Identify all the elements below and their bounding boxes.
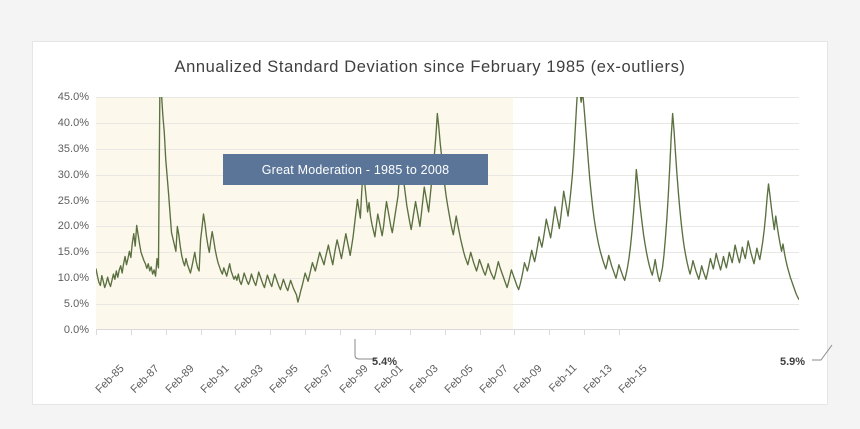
x-axis-tick-label: Feb-05	[442, 363, 475, 396]
y-axis-tick-label: 5.0%	[64, 298, 89, 310]
x-axis-tick-label: Feb-85	[94, 363, 127, 396]
y-axis-tick-label: 15.0%	[58, 246, 89, 258]
plot-area-wrapper: 45.0%40.0%35.0%30.0%25.0%20.0%15.0%10.0%…	[96, 97, 799, 330]
x-axis-tick	[340, 330, 341, 335]
y-axis-tick-label: 25.0%	[58, 195, 89, 207]
y-axis-tick-label: 45.0%	[58, 91, 89, 103]
y-axis-tick-label: 10.0%	[58, 272, 89, 284]
x-axis-tick	[131, 330, 132, 335]
x-axis-tick-label: Feb-97	[303, 363, 336, 396]
x-axis-tick	[514, 330, 515, 335]
x-axis-tick	[445, 330, 446, 335]
x-axis-tick-label: Feb-11	[547, 362, 580, 395]
great-moderation-callout-label: Great Moderation - 1985 to 2008	[262, 163, 450, 177]
x-axis-tick-label: Feb-87	[128, 363, 161, 396]
y-axis-tick-label: 40.0%	[58, 117, 89, 129]
chart-title: Annualized Standard Deviation since Febr…	[33, 58, 827, 77]
x-axis-tick	[201, 330, 202, 335]
x-axis-tick-label: Feb-09	[512, 363, 545, 396]
x-axis-tick	[96, 330, 97, 335]
y-axis-tick-label: 35.0%	[58, 143, 89, 155]
x-axis-tick-label: Feb-93	[233, 363, 266, 396]
x-axis-tick	[235, 330, 236, 335]
x-axis-tick	[619, 330, 620, 335]
x-axis-tick-label: Feb-03	[407, 363, 440, 396]
x-axis-tick	[410, 330, 411, 335]
great-moderation-callout: Great Moderation - 1985 to 2008	[223, 154, 488, 185]
x-axis-tick-label: Feb-95	[268, 363, 301, 396]
x-axis-tick	[270, 330, 271, 335]
x-axis-tick	[549, 330, 550, 335]
x-axis-tick	[584, 330, 585, 335]
plot-area	[96, 97, 799, 330]
x-axis-tick-label: Feb-15	[616, 363, 649, 396]
x-axis-tick-label: Feb-99	[338, 363, 371, 396]
x-axis-tick	[480, 330, 481, 335]
annotation-low-right: 5.9%	[780, 356, 805, 368]
y-axis-tick-label: 20.0%	[58, 220, 89, 232]
x-axis-tick	[166, 330, 167, 335]
x-axis-tick	[305, 330, 306, 335]
y-axis-tick-label: 0.0%	[64, 324, 89, 336]
x-axis-tick-label: Feb-91	[198, 363, 231, 396]
x-axis-tick-label: Feb-13	[582, 363, 615, 396]
leader-line-low-right	[811, 342, 833, 364]
annotation-low-left: 5.4%	[372, 356, 397, 368]
series-line-annualized-standard-deviation	[96, 97, 799, 330]
y-axis-tick-label: 30.0%	[58, 169, 89, 181]
chart-card: Annualized Standard Deviation since Febr…	[32, 41, 828, 405]
x-axis-tick-label: Feb-89	[163, 363, 196, 396]
x-axis-tick	[375, 330, 376, 335]
x-axis-tick-label: Feb-07	[477, 363, 510, 396]
